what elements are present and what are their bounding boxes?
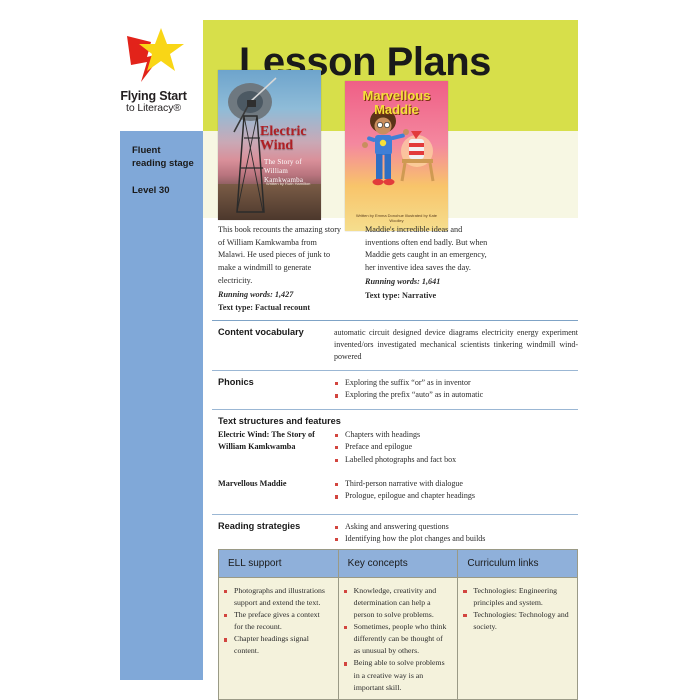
column-header: Curriculum links — [458, 550, 577, 578]
running-words: Running words: 1,427 — [218, 289, 343, 302]
summary-electric-wind: This book recounts the amazing story of … — [218, 224, 343, 315]
group-title: Marvellous Maddie — [212, 478, 334, 503]
list-item: Photographs and illustrations support an… — [223, 585, 331, 609]
vocabulary-words: automatic circuit designed device diagra… — [334, 327, 578, 363]
electric-wind-cover: Electric Wind The Story of William Kamkw… — [218, 70, 321, 220]
column-body: Photographs and illustrations support an… — [219, 578, 338, 699]
group-list: Chapters with headings Preface and epilo… — [334, 429, 578, 466]
running-words: Running words: 1,641 — [365, 276, 490, 289]
text-structures-group-marvellous-maddie: Marvellous Maddie Third-person narrative… — [212, 470, 578, 507]
strategies-list: Asking and answering questions Identifyi… — [334, 521, 578, 546]
text-type: Text type: Factual recount — [218, 302, 343, 315]
list-item: Preface and epilogue — [334, 441, 578, 453]
list-item: Being able to solve problems in a creati… — [343, 657, 451, 693]
text-type: Text type: Narrative — [365, 290, 490, 303]
summary-text: This book recounts the amazing story of … — [218, 224, 343, 288]
list-item: Prologue, epilogue and chapter headings — [334, 490, 578, 502]
lesson-sections: Content vocabulary automatic circuit des… — [212, 320, 578, 553]
list-item: Technologies: Engineering principles and… — [462, 585, 570, 609]
text-type-value: Narrative — [402, 291, 436, 300]
text-structures-group-electric-wind: Electric Wind: The Story of William Kamk… — [212, 428, 578, 470]
cover-credits: Written by Ruth Hamilton — [266, 182, 320, 187]
summary-marvellous-maddie: Maddie's incredible ideas and inventions… — [365, 224, 490, 302]
table-column-ell-support: ELL support Photographs and illustration… — [219, 550, 339, 699]
section-reading-strategies: Reading strategies Asking and answering … — [212, 515, 578, 553]
list-item: Identifying how the plot changes and bui… — [334, 533, 578, 545]
list-item: Chapter headings signal content. — [223, 633, 331, 657]
book-summaries: This book recounts the amazing story of … — [218, 224, 578, 315]
brand-logo: Flying Start to Literacy® — [104, 20, 203, 131]
cover-title-line-2: Wind — [260, 138, 293, 153]
stage-line-2: reading stage — [132, 158, 203, 171]
cover-title-line-1: Electric — [260, 124, 307, 139]
list-item: Third-person narrative with dialogue — [334, 478, 578, 490]
marvellous-maddie-cover: Marvellous Maddie Written by Emma Donohu… — [345, 81, 448, 231]
phonics-list: Exploring the suffix “or” as in inventor… — [334, 377, 578, 402]
lesson-plan-page: Flying Start to Literacy® Lesson Plans F… — [104, 20, 578, 684]
column-body: Knowledge, creativity and determination … — [339, 578, 458, 699]
section-label: Reading strategies — [212, 521, 334, 546]
table-column-curriculum-links: Curriculum links Technologies: Engineeri… — [458, 550, 577, 699]
group-title: Electric Wind: The Story of William Kamk… — [212, 429, 334, 466]
column-body: Technologies: Engineering principles and… — [458, 578, 577, 699]
cover-title: Electric Wind — [260, 125, 320, 153]
text-type-value: Factual recount — [255, 303, 310, 312]
text-type-label: Text type: — [218, 303, 253, 312]
column-header: Key concepts — [339, 550, 458, 578]
list-item: Technologies: Technology and society. — [462, 609, 570, 633]
list-item: Chapters with headings — [334, 429, 578, 441]
group-list: Third-person narrative with dialogue Pro… — [334, 478, 578, 503]
section-phonics: Phonics Exploring the suffix “or” as in … — [212, 371, 578, 409]
running-words-label: Running words: — [218, 290, 273, 299]
running-words-value: 1,641 — [422, 277, 440, 286]
list-item: Exploring the prefix “auto” as in automa… — [334, 389, 578, 401]
list-item: Asking and answering questions — [334, 521, 578, 533]
list-item: Knowledge, creativity and determination … — [343, 585, 451, 621]
table-column-key-concepts: Key concepts Knowledge, creativity and d… — [339, 550, 459, 699]
reading-stage-sidebar: Fluent reading stage Level 30 — [120, 131, 203, 680]
text-type-label: Text type: — [365, 291, 400, 300]
section-label: Phonics — [212, 377, 334, 402]
list-item: Exploring the suffix “or” as in inventor — [334, 377, 578, 389]
cover-title-line-2: Maddie — [374, 102, 419, 117]
list-item: Labelled photographs and fact box — [334, 454, 578, 466]
stage-line-1: Fluent — [132, 145, 203, 158]
cover-title: Marvellous Maddie — [351, 89, 442, 116]
running-words-value: 1,427 — [275, 290, 293, 299]
support-table: ELL support Photographs and illustration… — [218, 549, 578, 700]
level-label: Level 30 — [132, 185, 203, 198]
section-label-text-structures: Text structures and features — [212, 410, 578, 428]
star-lightning-logo-icon — [117, 26, 191, 88]
summary-text: Maddie's incredible ideas and inventions… — [365, 224, 490, 275]
running-words-label: Running words: — [365, 277, 420, 286]
section-label: Content vocabulary — [212, 327, 334, 363]
list-item: Sometimes, people who think differently … — [343, 621, 451, 657]
section-content-vocabulary: Content vocabulary automatic circuit des… — [212, 321, 578, 370]
column-header: ELL support — [219, 550, 338, 578]
cover-credits: Written by Emma Donohue Illustrated by K… — [355, 213, 438, 223]
list-item: The preface gives a context for the reco… — [223, 609, 331, 633]
brand-tagline: to Literacy® — [126, 103, 181, 114]
